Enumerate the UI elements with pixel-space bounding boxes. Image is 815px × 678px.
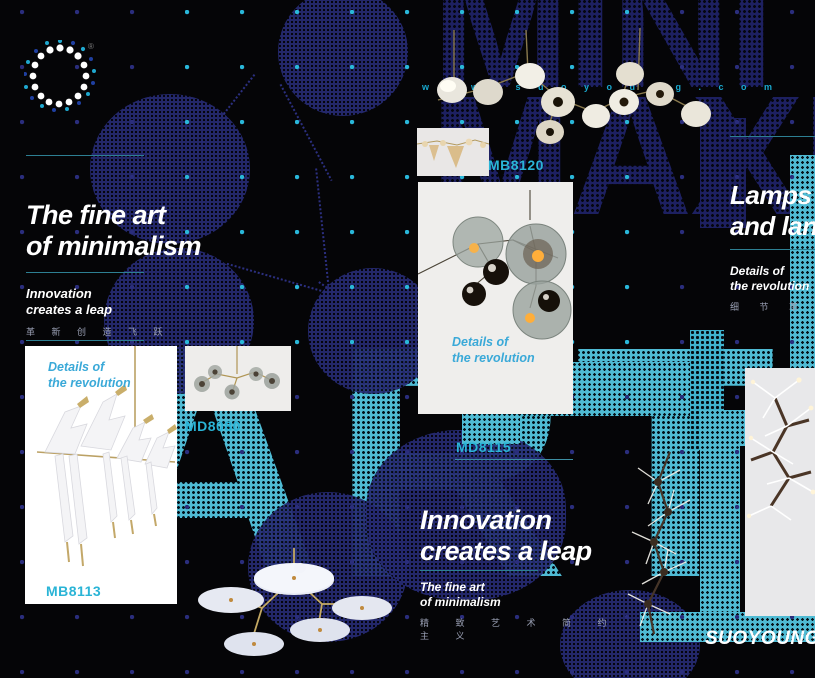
caption-mb8113: Details of the revolution xyxy=(48,360,131,391)
product-card-md8115[interactable] xyxy=(418,182,573,414)
product-code-md8115: MD8115 xyxy=(456,439,511,455)
caption-mb8113-line2: the revolution xyxy=(48,376,131,392)
molecular-lamp-dark xyxy=(624,442,704,642)
left-sub-line1: Innovation xyxy=(26,286,206,302)
left-headline: The fine art of minimalism xyxy=(26,200,256,262)
poster-canvas: MINI MAXI ART xyxy=(0,0,815,678)
right-sub-line2: the revolution xyxy=(730,279,815,294)
registered-mark: ® xyxy=(88,42,94,51)
disc-chandelier-illustration xyxy=(190,548,395,668)
left-sub-cn: 革 新 创 造 飞 跃 xyxy=(26,325,206,338)
left-rule-bottom xyxy=(26,340,144,341)
logo-icon xyxy=(24,40,96,112)
right-sub-line1: Details of xyxy=(730,264,815,279)
center-rule xyxy=(420,570,538,571)
md8115-rule xyxy=(455,459,573,460)
caption-md8115-line1: Details of xyxy=(452,335,535,351)
right-subtext: Details of the revolution 细 节 革 命 xyxy=(730,264,815,313)
center-sub-line2: of minimalism xyxy=(420,595,650,610)
product-card-md8080[interactable] xyxy=(185,346,291,411)
left-subtext: Innovation creates a leap 革 新 创 造 飞 跃 xyxy=(26,286,206,338)
caption-md8115-line2: the revolution xyxy=(452,351,535,367)
product-code-mb8120: MB8120 xyxy=(488,157,544,173)
right-rule-top xyxy=(730,136,815,137)
product-card-sputnik[interactable] xyxy=(745,368,815,616)
right-headline-line2: and lan xyxy=(730,211,815,242)
left-rule-mid xyxy=(26,272,144,273)
center-sub-cn: 精 致 艺 术 简 约 主 义 xyxy=(420,616,650,642)
left-sub-line2: creates a leap xyxy=(26,302,206,318)
center-sub-line1: The fine art xyxy=(420,580,650,595)
left-headline-line1: The fine art xyxy=(26,200,256,231)
brand-wordmark: SUOYOUNG xyxy=(705,628,815,650)
right-sub-cn: 细 节 革 命 xyxy=(730,300,815,313)
center-bottom-subtext: The fine art of minimalism 精 致 艺 术 简 约 主… xyxy=(420,580,650,642)
left-headline-line2: of minimalism xyxy=(26,231,256,262)
product-code-md8080: MD8080 xyxy=(185,418,241,434)
left-rule-top xyxy=(26,155,144,156)
product-card-mb8120[interactable] xyxy=(417,128,489,176)
right-headline-line1: Lamps xyxy=(730,180,815,211)
right-rule-mid xyxy=(730,249,815,250)
product-code-mb8113: MB8113 xyxy=(46,583,101,599)
caption-mb8113-line1: Details of xyxy=(48,360,131,376)
caption-md8115: Details of the revolution xyxy=(452,335,535,366)
right-headline: Lamps and lan xyxy=(730,180,815,242)
left-text-block xyxy=(26,155,186,156)
